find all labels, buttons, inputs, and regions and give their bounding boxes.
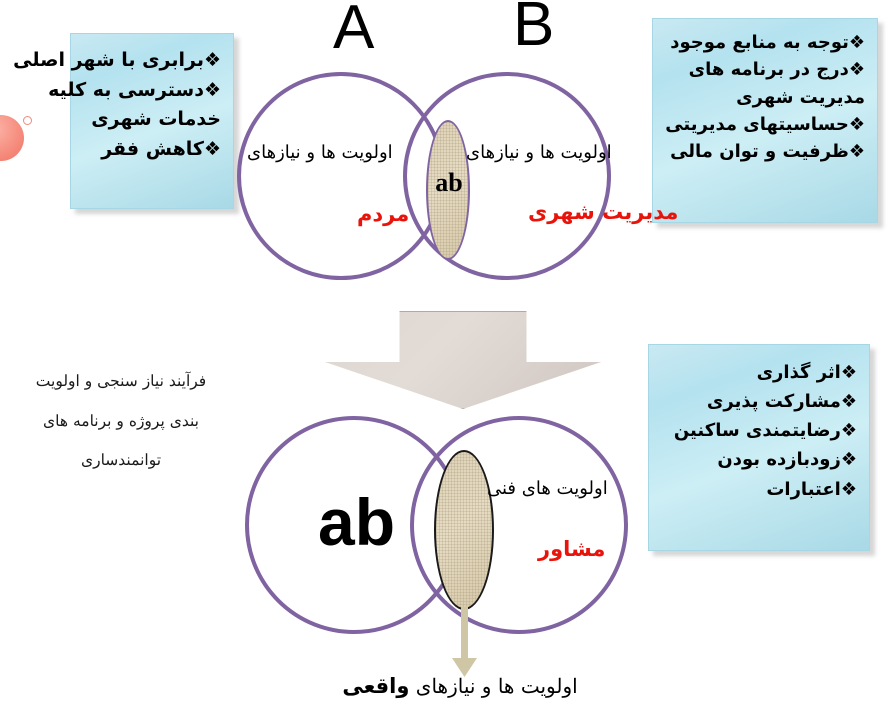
venn-top-left-actor-label: مردم xyxy=(357,202,409,226)
set-label-a: A xyxy=(333,0,374,59)
callout-line: ❖برابری با شهر اصلی xyxy=(77,46,221,76)
side-note-line: توانمندساری xyxy=(2,441,240,481)
venn-top-right-actor-label: مدیریت شهری xyxy=(528,200,678,224)
venn-top-right-needs-label: اولویت ها و نیازهای xyxy=(466,142,612,163)
down-arrow-icon xyxy=(325,311,601,409)
venn-bottom-intersection-lens xyxy=(434,450,494,610)
callout-urban-management-criteria: ❖توجه به منابع موجود ❖درج در برنامه های … xyxy=(652,18,878,223)
bottom-caption: اولویت ها و نیازهای واقعی xyxy=(300,674,620,698)
callout-line: ❖کاهش فقر xyxy=(77,135,221,165)
callout-line: ❖اثر گذاری xyxy=(655,358,857,387)
callout-line: مدیریت شهری xyxy=(659,84,865,111)
callout-people-outcomes: ❖برابری با شهر اصلی ❖دسترسی به کلیه خدما… xyxy=(70,33,234,209)
callout-line: ❖رضایتمندی ساکنین xyxy=(655,416,857,445)
venn-top-ab-label: ab xyxy=(425,168,473,198)
callout-line: ❖اعتبارات xyxy=(655,475,857,504)
side-note-line: فرآیند نیاز سنجی و اولویت xyxy=(2,362,240,402)
callout-line: ❖مشارکت پذیری xyxy=(655,387,857,416)
set-label-b: B xyxy=(513,0,554,56)
callout-line: خدمات شهری xyxy=(77,105,221,135)
callout-line: ❖دسترسی به کلیه xyxy=(77,76,221,106)
diagram-canvas: ❖برابری با شهر اصلی ❖دسترسی به کلیه خدما… xyxy=(0,0,888,716)
callout-line: ❖حساسیتهای مدیریتی xyxy=(659,111,865,138)
result-arrow-stem-icon xyxy=(461,607,468,662)
bottom-caption-prefix: اولویت ها و نیازهای xyxy=(409,674,577,698)
bottom-caption-emphasis: واقعی xyxy=(342,674,409,698)
side-note-process: فرآیند نیاز سنجی و اولویت بندی پروژه و ب… xyxy=(2,362,240,481)
callout-line: ❖زودبازده بودن xyxy=(655,445,857,474)
callout-line: ❖توجه به منابع موجود xyxy=(659,29,865,56)
callout-line: ❖ظرفیت و توان مالی xyxy=(659,138,865,165)
venn-bottom-ab-label: ab xyxy=(318,489,395,555)
venn-bottom-right-actor-label: مشاور xyxy=(538,537,605,561)
decorative-circle-icon xyxy=(0,115,24,161)
callout-line: ❖درج در برنامه های xyxy=(659,56,865,83)
decorative-ring-icon xyxy=(23,116,32,125)
venn-top-left-needs-label: اولویت ها و نیازهای xyxy=(247,142,393,163)
side-note-line: بندی پروژه و برنامه های xyxy=(2,402,240,442)
callout-consultant-criteria: ❖اثر گذاری ❖مشارکت پذیری ❖رضایتمندی ساکن… xyxy=(648,344,870,551)
venn-bottom-right-needs-label: اولویت های فنی xyxy=(487,478,608,499)
